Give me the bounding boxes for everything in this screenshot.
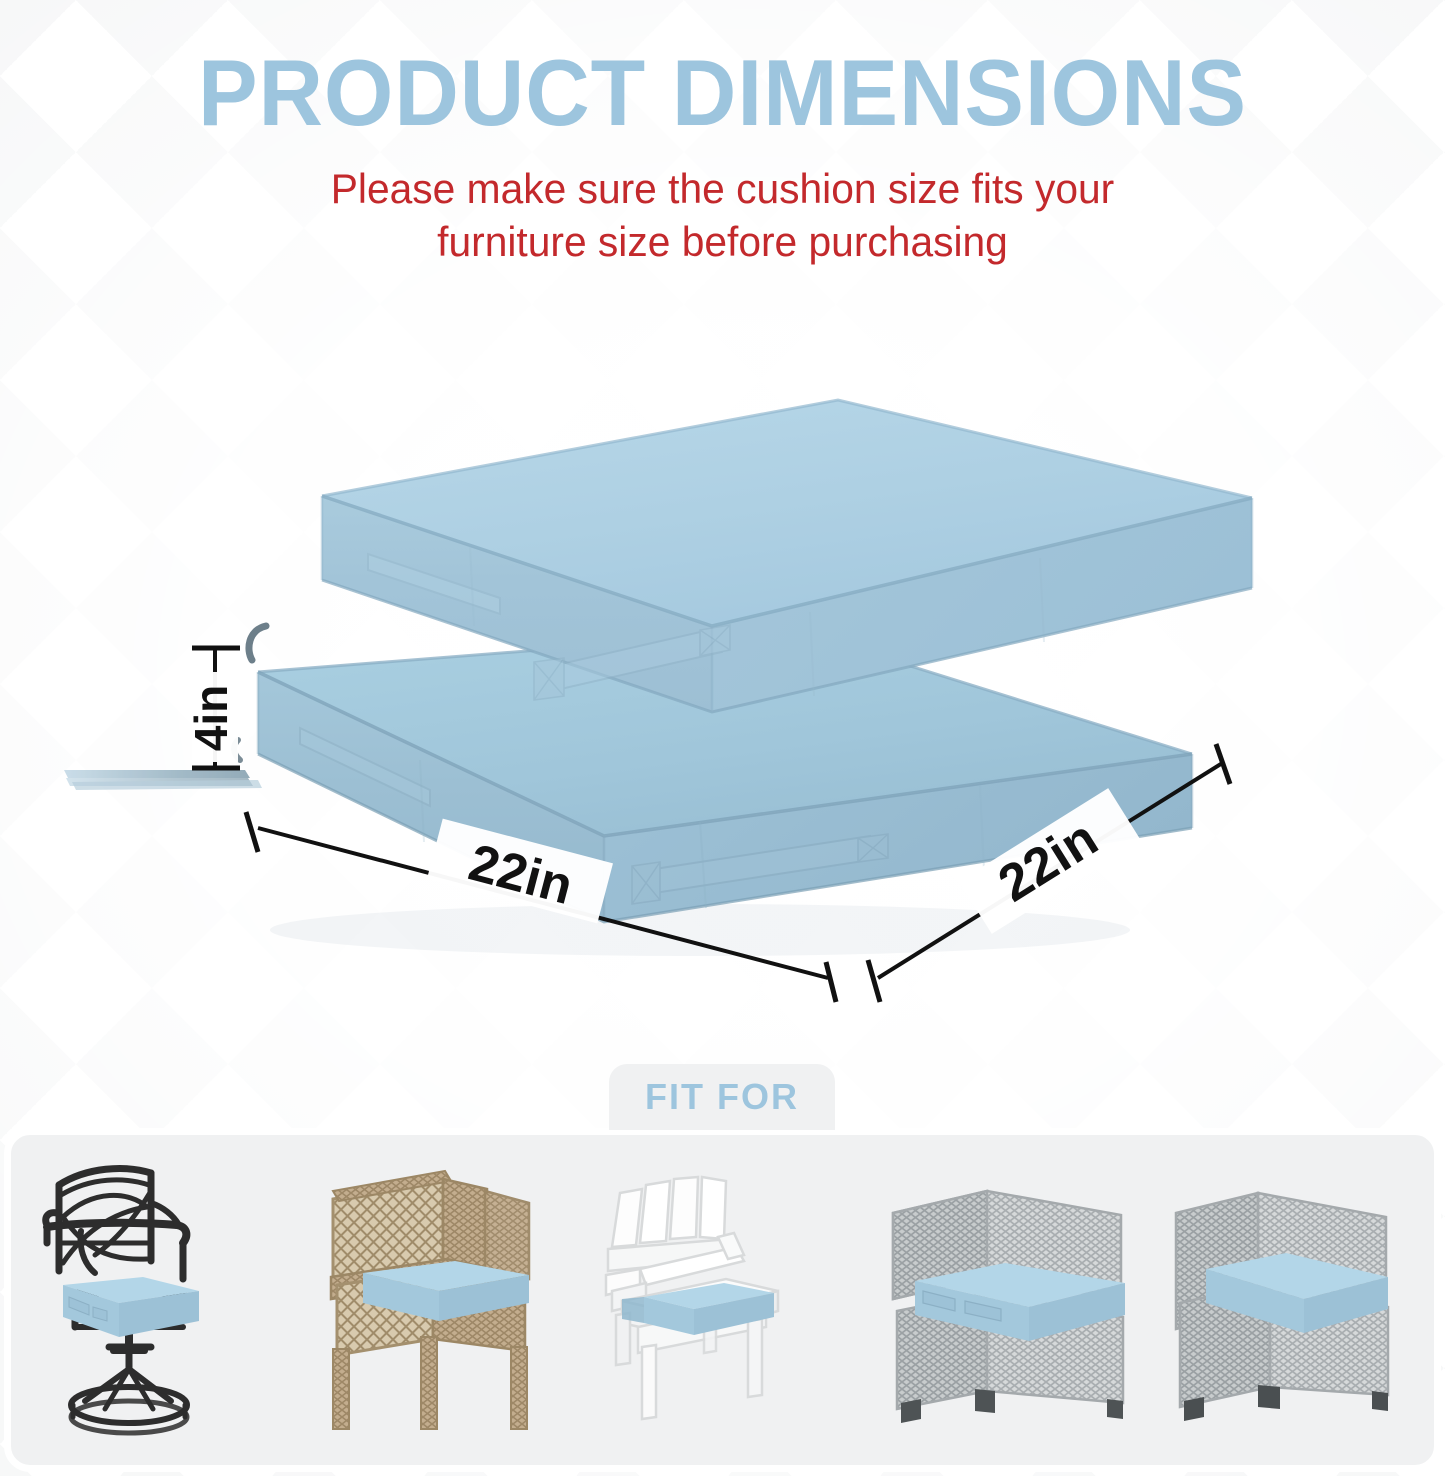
product-dimensions-infographic: PRODUCT DIMENSIONS Please make sure the … <box>0 0 1445 1476</box>
gallery-item-wicker-corner-sectional-gray[interactable] <box>1146 1141 1428 1451</box>
gallery-item-wicker-arm-chair-tan[interactable] <box>299 1141 581 1451</box>
dimension-height-4in: 4in <box>185 648 240 768</box>
gallery-item-wicker-armless-sectional-gray[interactable] <box>864 1141 1146 1451</box>
fit-for-tab: FIT FOR <box>609 1064 835 1130</box>
page-title: PRODUCT DIMENSIONS <box>36 46 1409 140</box>
header: PRODUCT DIMENSIONS Please make sure the … <box>0 0 1445 269</box>
cushion-ties <box>64 770 262 790</box>
gallery-item-adirondack-chair-white[interactable] <box>581 1141 863 1451</box>
fit-for-gallery-panel <box>4 1128 1441 1472</box>
fit-for-label: FIT FOR <box>645 1076 799 1118</box>
gallery-item-metal-swivel-dining-chair[interactable] <box>17 1141 299 1451</box>
metal-frame-bar <box>249 626 266 660</box>
dimension-label-height: 4in <box>185 685 237 751</box>
subtitle-line-1: Please make sure the cushion size fits y… <box>22 162 1424 215</box>
page-subtitle: Please make sure the cushion size fits y… <box>22 162 1424 269</box>
subtitle-line-2: furniture size before purchasing <box>22 215 1424 268</box>
product-hero: 4in 22in 22in <box>0 330 1445 1050</box>
